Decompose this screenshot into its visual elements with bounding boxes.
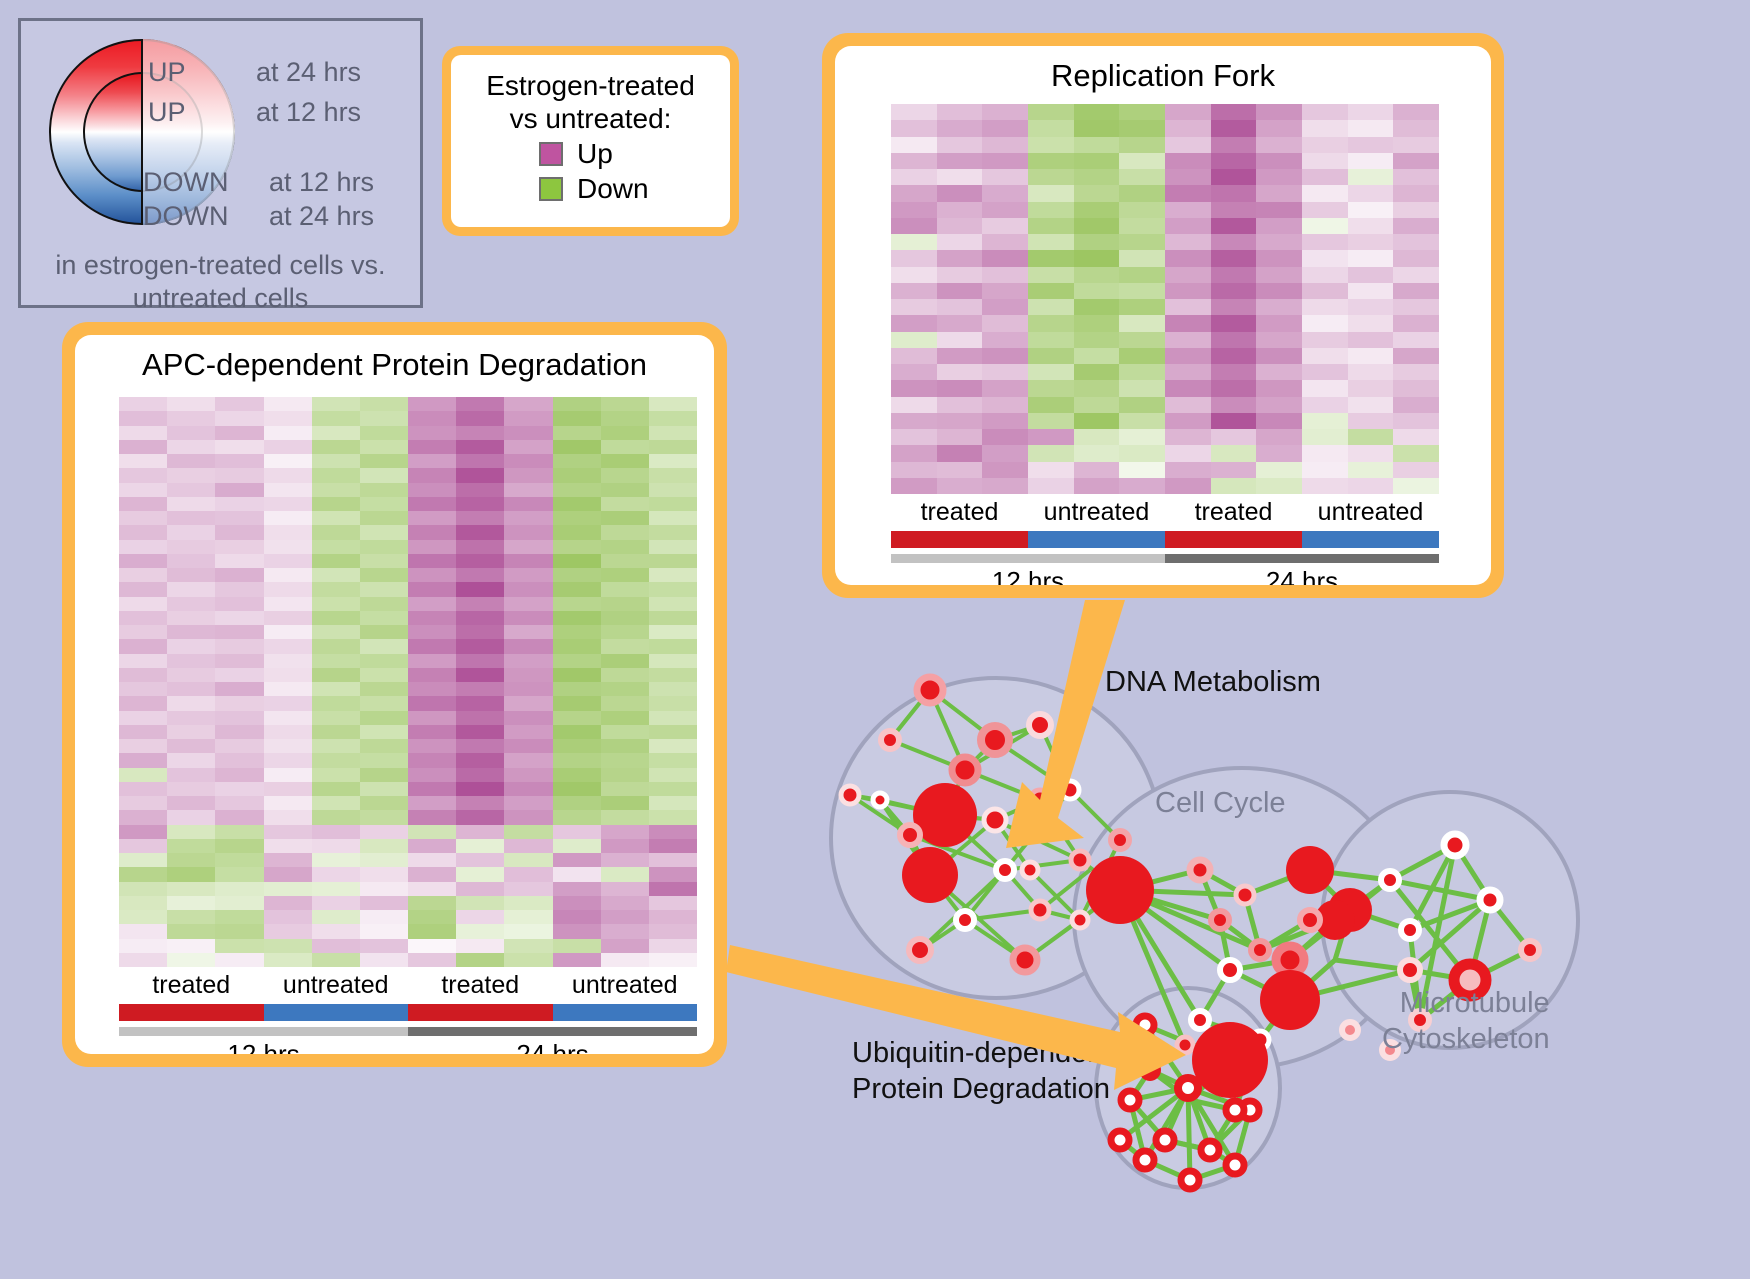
heatmap-cell [215, 454, 263, 468]
heatmap-cell [1074, 218, 1120, 234]
heatmap-cell [264, 782, 312, 796]
network-node [1236, 886, 1254, 904]
heatmap-cell [119, 468, 167, 482]
heatmap-cell [408, 853, 456, 867]
heatmap-cell [119, 739, 167, 753]
heatmap-cell [553, 440, 601, 454]
heatmap-cell [264, 554, 312, 568]
heatmap-cell [553, 910, 601, 924]
heatmap-cell [982, 185, 1028, 201]
heatmap-cell [167, 625, 215, 639]
network-node [1121, 1091, 1139, 1109]
heatmap-cell [891, 413, 937, 429]
heatmap-cell [1302, 202, 1348, 218]
network-node [1031, 901, 1049, 919]
heatmap-cell [456, 525, 504, 539]
heatmap-cell [408, 825, 456, 839]
heatmap-cell [312, 711, 360, 725]
heatmap-cell [1074, 250, 1120, 266]
heatmap-cell [504, 882, 552, 896]
heatmap-cell [1074, 478, 1120, 494]
heatmap-cell [119, 411, 167, 425]
heatmap-cell [891, 315, 937, 331]
heatmap-cell [312, 682, 360, 696]
heatmap-cell [408, 782, 456, 796]
heatmap-cell [1074, 397, 1120, 413]
heatmap-cell [215, 696, 263, 710]
heatmap-cell [649, 910, 697, 924]
heatmap-cell [360, 483, 408, 497]
heatmap-cell [553, 867, 601, 881]
heatmap-cell [649, 939, 697, 953]
heatmap-cell [1211, 267, 1257, 283]
heatmap-cell [215, 810, 263, 824]
heatmap-cell [553, 554, 601, 568]
network-node [909, 939, 931, 961]
heatmap-cell [408, 568, 456, 582]
heatmap-cell [1165, 429, 1211, 445]
time-label: 12 hrs [119, 1039, 408, 1054]
heatmap-cell [1074, 120, 1120, 136]
wheel-label-up-24: UP [148, 57, 186, 88]
network-node [996, 861, 1014, 879]
heatmap-cell [119, 497, 167, 511]
heatmap-cell [167, 810, 215, 824]
heatmap-cell [1256, 153, 1302, 169]
heatmap-cell [119, 753, 167, 767]
heatmap-cell [456, 739, 504, 753]
heatmap-cell [408, 739, 456, 753]
heatmap-cell [1074, 153, 1120, 169]
heatmap-cell [360, 882, 408, 896]
heatmap-cell [1211, 299, 1257, 315]
heatmap-cell [504, 682, 552, 696]
heatmap-cell [167, 411, 215, 425]
network-node [1251, 941, 1269, 959]
heatmap-cell [215, 654, 263, 668]
heatmap-cell [264, 426, 312, 440]
heatmap-cell [1211, 397, 1257, 413]
cond-label: untreated [553, 971, 698, 1000]
heatmap-cell [1348, 104, 1394, 120]
heatmap-cell [264, 483, 312, 497]
heatmap-cell [1348, 445, 1394, 461]
heatmap-cell [601, 554, 649, 568]
heatmap-cell [408, 668, 456, 682]
heatmap-cell [167, 440, 215, 454]
heatmap-cell [264, 568, 312, 582]
cond-label: untreated [1028, 498, 1165, 527]
heatmap-cell [408, 582, 456, 596]
heatmap-cell [601, 497, 649, 511]
heatmap-cell [601, 682, 649, 696]
network-node [1139, 1059, 1161, 1081]
heatmap-cell [1119, 137, 1165, 153]
heatmap-cell [408, 625, 456, 639]
network-node [984, 809, 1006, 831]
network-node [1030, 790, 1050, 810]
heatmap-cell [167, 825, 215, 839]
heatmap-cell [167, 696, 215, 710]
heatmap-cell [1211, 120, 1257, 136]
time-bar-seg [891, 554, 1165, 563]
heatmap-cell [649, 796, 697, 810]
heatmap-cell [264, 440, 312, 454]
heatmap-cell [264, 768, 312, 782]
heatmap-cell [408, 483, 456, 497]
heatmap-cell [504, 525, 552, 539]
heatmap-cell [649, 597, 697, 611]
heatmap-cell [167, 882, 215, 896]
heatmap-cell [1211, 380, 1257, 396]
panel-replication-fork: Replication Fork treated untreated treat… [822, 33, 1504, 598]
heatmap-cell [504, 939, 552, 953]
heatmap-cell [408, 497, 456, 511]
heatmap-cell [1256, 332, 1302, 348]
cond-bar-seg [264, 1004, 409, 1021]
heatmap-cell [215, 725, 263, 739]
heatmap-cell [1302, 185, 1348, 201]
color-wheel-legend: UP at 24 hrs UP at 12 hrs DOWN at 12 hrs… [18, 18, 423, 308]
heatmap-cell [1028, 462, 1074, 478]
heatmap-cell [167, 725, 215, 739]
heatmap-cell [553, 525, 601, 539]
network-node [1061, 781, 1079, 799]
heatmap-cell [1119, 397, 1165, 413]
cluster-label-cell-cycle: Cell Cycle [1155, 785, 1286, 821]
heatmap-cell [504, 625, 552, 639]
heatmap-cell [167, 768, 215, 782]
network-node [1190, 860, 1210, 880]
heatmap-cell [1211, 234, 1257, 250]
heatmap-cell [456, 568, 504, 582]
heatmap-cell [456, 397, 504, 411]
network-node [881, 731, 899, 749]
heatmap-cell [119, 882, 167, 896]
heatmap-cell [215, 511, 263, 525]
heatmap-cell [312, 810, 360, 824]
time-label: 24 hrs [1165, 566, 1439, 585]
condition-labels-rf: treated untreated treated untreated [891, 498, 1439, 527]
heatmap-cell [215, 597, 263, 611]
heatmap-cell [891, 348, 937, 364]
heatmap-cell [1393, 445, 1439, 461]
heatmap-cell [119, 682, 167, 696]
heatmap-cell [1348, 202, 1394, 218]
heatmap-cell [167, 682, 215, 696]
time-bar-seg [119, 1027, 408, 1036]
heatmap-cell [167, 426, 215, 440]
heatmap-cell [1256, 413, 1302, 429]
network-node [1220, 960, 1240, 980]
heatmap-cell [456, 867, 504, 881]
heatmap-cell [1302, 137, 1348, 153]
heatmap-cell [215, 953, 263, 967]
heatmap-cell [408, 440, 456, 454]
heatmap-cell [408, 753, 456, 767]
updown-legend-title: Estrogen-treated vs untreated: [461, 69, 720, 135]
network-node [1444, 834, 1466, 856]
heatmap-cell [1165, 120, 1211, 136]
panel-title-replication-fork: Replication Fork [835, 46, 1491, 94]
heatmap-cell [1348, 267, 1394, 283]
heatmap-cell [360, 525, 408, 539]
heatmap-cell [215, 782, 263, 796]
heatmap-cell [215, 397, 263, 411]
legend-row-down: Down [539, 173, 720, 205]
heatmap-cell [264, 611, 312, 625]
heatmap-cell [215, 867, 263, 881]
heatmap-cell [982, 218, 1028, 234]
heatmap-cell [1028, 445, 1074, 461]
heatmap-cell [1256, 478, 1302, 494]
heatmap-cell [553, 426, 601, 440]
heatmap-cell [982, 153, 1028, 169]
heatmap-cell [1119, 218, 1165, 234]
panel-title-apc: APC-dependent Protein Degradation [75, 335, 714, 383]
heatmap-cell [1302, 169, 1348, 185]
heatmap-cell [553, 540, 601, 554]
heatmap-cell [1393, 397, 1439, 413]
heatmap-cell [1119, 185, 1165, 201]
heatmap-cell [1256, 218, 1302, 234]
heatmap-cell [167, 654, 215, 668]
heatmap-cell [1393, 283, 1439, 299]
heatmap-cell [1302, 283, 1348, 299]
heatmap-cell [360, 611, 408, 625]
time-bar-seg [1165, 554, 1439, 563]
heatmap-cell [1119, 283, 1165, 299]
heatmap-cell [312, 953, 360, 967]
heatmap-cell [360, 625, 408, 639]
network-node [1400, 960, 1420, 980]
heatmap-cell [601, 753, 649, 767]
heatmap-cell [312, 525, 360, 539]
heatmap-cell [312, 839, 360, 853]
heatmap-cell [891, 445, 937, 461]
panel-apc-degradation: APC-dependent Protein Degradation treate… [62, 322, 727, 1067]
heatmap-cell [1393, 250, 1439, 266]
heatmap-cell [504, 411, 552, 425]
heatmap-cell [982, 478, 1028, 494]
heatmap-cell [1211, 218, 1257, 234]
heatmap-cell [1119, 250, 1165, 266]
heatmap-cell [1165, 397, 1211, 413]
wheel-time-down-12: at 12 hrs [269, 167, 374, 198]
heatmap-cell [601, 483, 649, 497]
heatmap-cell [1119, 234, 1165, 250]
heatmap-cell [1165, 169, 1211, 185]
network-node [1211, 911, 1229, 929]
heatmap-cell [360, 924, 408, 938]
heatmap-cell [264, 525, 312, 539]
heatmap-cell [215, 426, 263, 440]
heatmap-cell [312, 739, 360, 753]
heatmap-cell [119, 839, 167, 853]
heatmap-cell [1028, 332, 1074, 348]
heatmap-cell [215, 711, 263, 725]
heatmap-cell [553, 953, 601, 967]
cond-label: treated [408, 971, 553, 1000]
heatmap-cell [1119, 120, 1165, 136]
heatmap-cell [1119, 413, 1165, 429]
heatmap-cell [1028, 299, 1074, 315]
time-labels-apc: 12 hrs 24 hrs [119, 1039, 697, 1054]
heatmap-cell [119, 711, 167, 725]
heatmap-cell [1393, 348, 1439, 364]
heatmap-cell [1302, 364, 1348, 380]
heatmap-cell [1256, 104, 1302, 120]
heatmap-cell [215, 468, 263, 482]
up-swatch-icon [539, 142, 563, 166]
heatmap-cell [891, 153, 937, 169]
heatmap-cell [937, 120, 983, 136]
heatmap-cell [119, 896, 167, 910]
heatmap-replication-fork [891, 104, 1439, 494]
heatmap-cell [649, 468, 697, 482]
heatmap-cell [119, 768, 167, 782]
network-node [1201, 1141, 1219, 1159]
heatmap-apc [119, 397, 697, 967]
heatmap-cell [1119, 104, 1165, 120]
heatmap-cell [601, 611, 649, 625]
cluster-label-microtubule: Microtubule Cytoskeleton [1382, 985, 1550, 1057]
heatmap-cell [982, 462, 1028, 478]
heatmap-cell [553, 654, 601, 668]
heatmap-cell [456, 953, 504, 967]
heatmap-cell [891, 462, 937, 478]
heatmap-cell [937, 234, 983, 250]
time-color-bar-rf [891, 554, 1439, 563]
heatmap-cell [504, 454, 552, 468]
heatmap-cell [649, 540, 697, 554]
network-node [1300, 910, 1320, 930]
heatmap-cell [360, 696, 408, 710]
heatmap-cell [937, 185, 983, 201]
heatmap-cell [601, 910, 649, 924]
heatmap-cell [504, 782, 552, 796]
legend-label-down: Down [577, 173, 649, 205]
heatmap-cell [1211, 169, 1257, 185]
heatmap-cell [167, 639, 215, 653]
heatmap-cell [982, 283, 1028, 299]
heatmap-cell [1302, 153, 1348, 169]
heatmap-cell [215, 853, 263, 867]
heatmap-cell [408, 426, 456, 440]
heatmap-cell [312, 597, 360, 611]
heatmap-cell [601, 725, 649, 739]
heatmap-cell [1211, 364, 1257, 380]
heatmap-cell [408, 725, 456, 739]
network-node [1226, 1156, 1244, 1174]
heatmap-cell [360, 582, 408, 596]
heatmap-cell [167, 497, 215, 511]
heatmap-cell [1028, 364, 1074, 380]
heatmap-cell [937, 445, 983, 461]
heatmap-cell [601, 411, 649, 425]
network-node-hub [1086, 856, 1154, 924]
heatmap-cell [649, 711, 697, 725]
heatmap-cell [1074, 169, 1120, 185]
heatmap-cell [360, 839, 408, 853]
heatmap-cell [167, 668, 215, 682]
heatmap-cell [891, 429, 937, 445]
heatmap-cell [601, 582, 649, 596]
heatmap-cell [937, 380, 983, 396]
heatmap-cell [601, 454, 649, 468]
heatmap-cell [1302, 315, 1348, 331]
heatmap-cell [215, 568, 263, 582]
heatmap-cell [504, 839, 552, 853]
heatmap-cell [601, 882, 649, 896]
updown-legend-card: Estrogen-treated vs untreated: Up Down [442, 46, 739, 236]
heatmap-cell [1165, 364, 1211, 380]
heatmap-cell [312, 924, 360, 938]
network-node [1342, 1022, 1358, 1038]
network-node [1521, 941, 1539, 959]
heatmap-cell [1302, 413, 1348, 429]
time-bar-seg [408, 1027, 697, 1036]
heatmap-cell [167, 782, 215, 796]
heatmap-cell [1074, 137, 1120, 153]
heatmap-cell [553, 853, 601, 867]
heatmap-cell [119, 853, 167, 867]
heatmap-cell [1165, 234, 1211, 250]
network-node [1276, 946, 1304, 974]
network-node [1191, 1011, 1209, 1029]
heatmap-cell [504, 768, 552, 782]
heatmap-cell [408, 768, 456, 782]
heatmap-cell [649, 525, 697, 539]
heatmap-cell [649, 839, 697, 853]
heatmap-cell [504, 568, 552, 582]
heatmap-cell [601, 953, 649, 967]
heatmap-cell [1074, 348, 1120, 364]
time-label: 12 hrs [891, 566, 1165, 585]
heatmap-cell [1256, 462, 1302, 478]
heatmap-cell [119, 654, 167, 668]
heatmap-cell [982, 380, 1028, 396]
heatmap-cell [1256, 137, 1302, 153]
heatmap-cell [119, 825, 167, 839]
heatmap-cell [1393, 299, 1439, 315]
heatmap-cell [1393, 104, 1439, 120]
heatmap-cell [982, 120, 1028, 136]
heatmap-cell [601, 810, 649, 824]
heatmap-cell [601, 668, 649, 682]
heatmap-cell [119, 953, 167, 967]
heatmap-cell [649, 953, 697, 967]
heatmap-cell [215, 540, 263, 554]
heatmap-cell [1256, 364, 1302, 380]
heatmap-cell [504, 867, 552, 881]
heatmap-cell [1211, 202, 1257, 218]
heatmap-cell [264, 540, 312, 554]
heatmap-cell [1028, 120, 1074, 136]
heatmap-cell [408, 597, 456, 611]
heatmap-cell [1393, 413, 1439, 429]
heatmap-cell [649, 611, 697, 625]
heatmap-cell [119, 639, 167, 653]
heatmap-cell [1165, 218, 1211, 234]
heatmap-cell [649, 682, 697, 696]
heatmap-cell [1074, 202, 1120, 218]
heatmap-cell [215, 910, 263, 924]
heatmap-cell [119, 782, 167, 796]
heatmap-cell [1119, 267, 1165, 283]
heatmap-cell [215, 440, 263, 454]
heatmap-cell [1256, 202, 1302, 218]
